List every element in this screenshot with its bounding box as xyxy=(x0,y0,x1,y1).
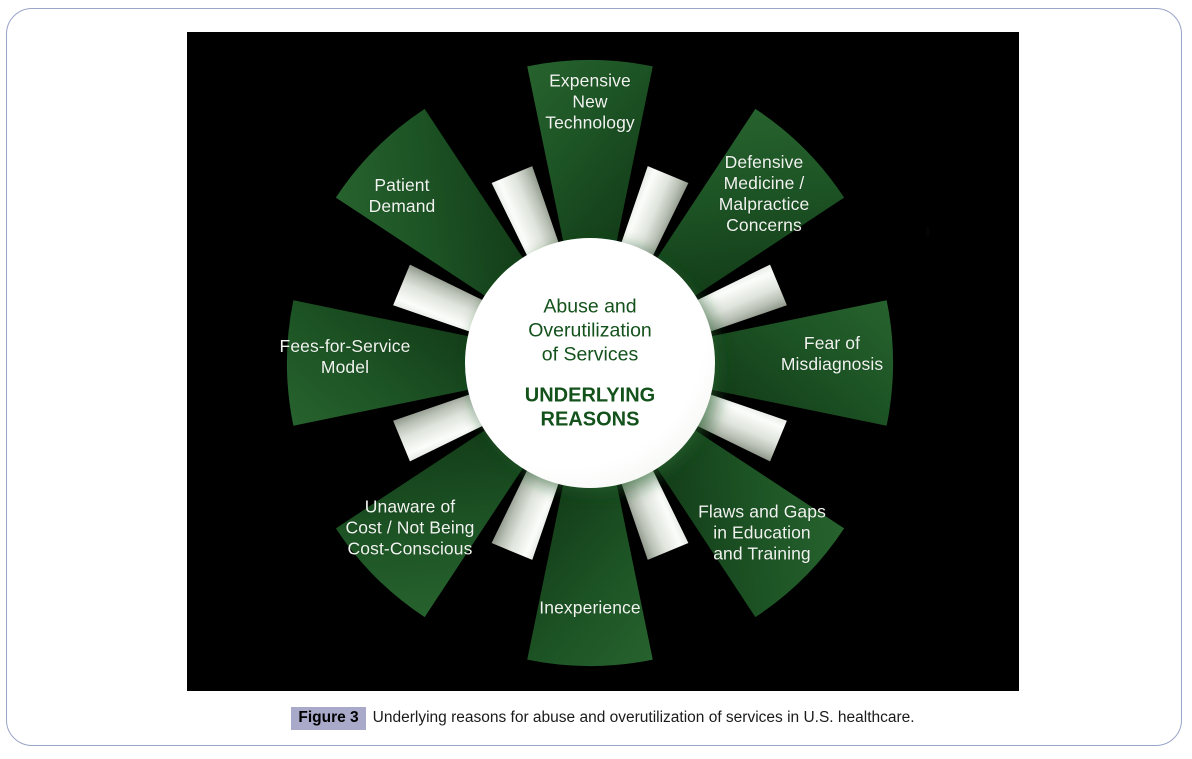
figure-card: Expensive New Technology Defensive Medic… xyxy=(6,8,1182,746)
hub-circle xyxy=(465,238,715,488)
figure-caption: Figure 3Underlying reasons for abuse and… xyxy=(187,707,1019,730)
figure-caption-text: Underlying reasons for abuse and overuti… xyxy=(373,709,915,726)
segmented-wheel-graphic xyxy=(187,32,1019,691)
scan-artifact xyxy=(926,227,929,236)
diagram-image: Expensive New Technology Defensive Medic… xyxy=(187,32,1019,691)
figure-number-badge: Figure 3 xyxy=(291,707,365,730)
